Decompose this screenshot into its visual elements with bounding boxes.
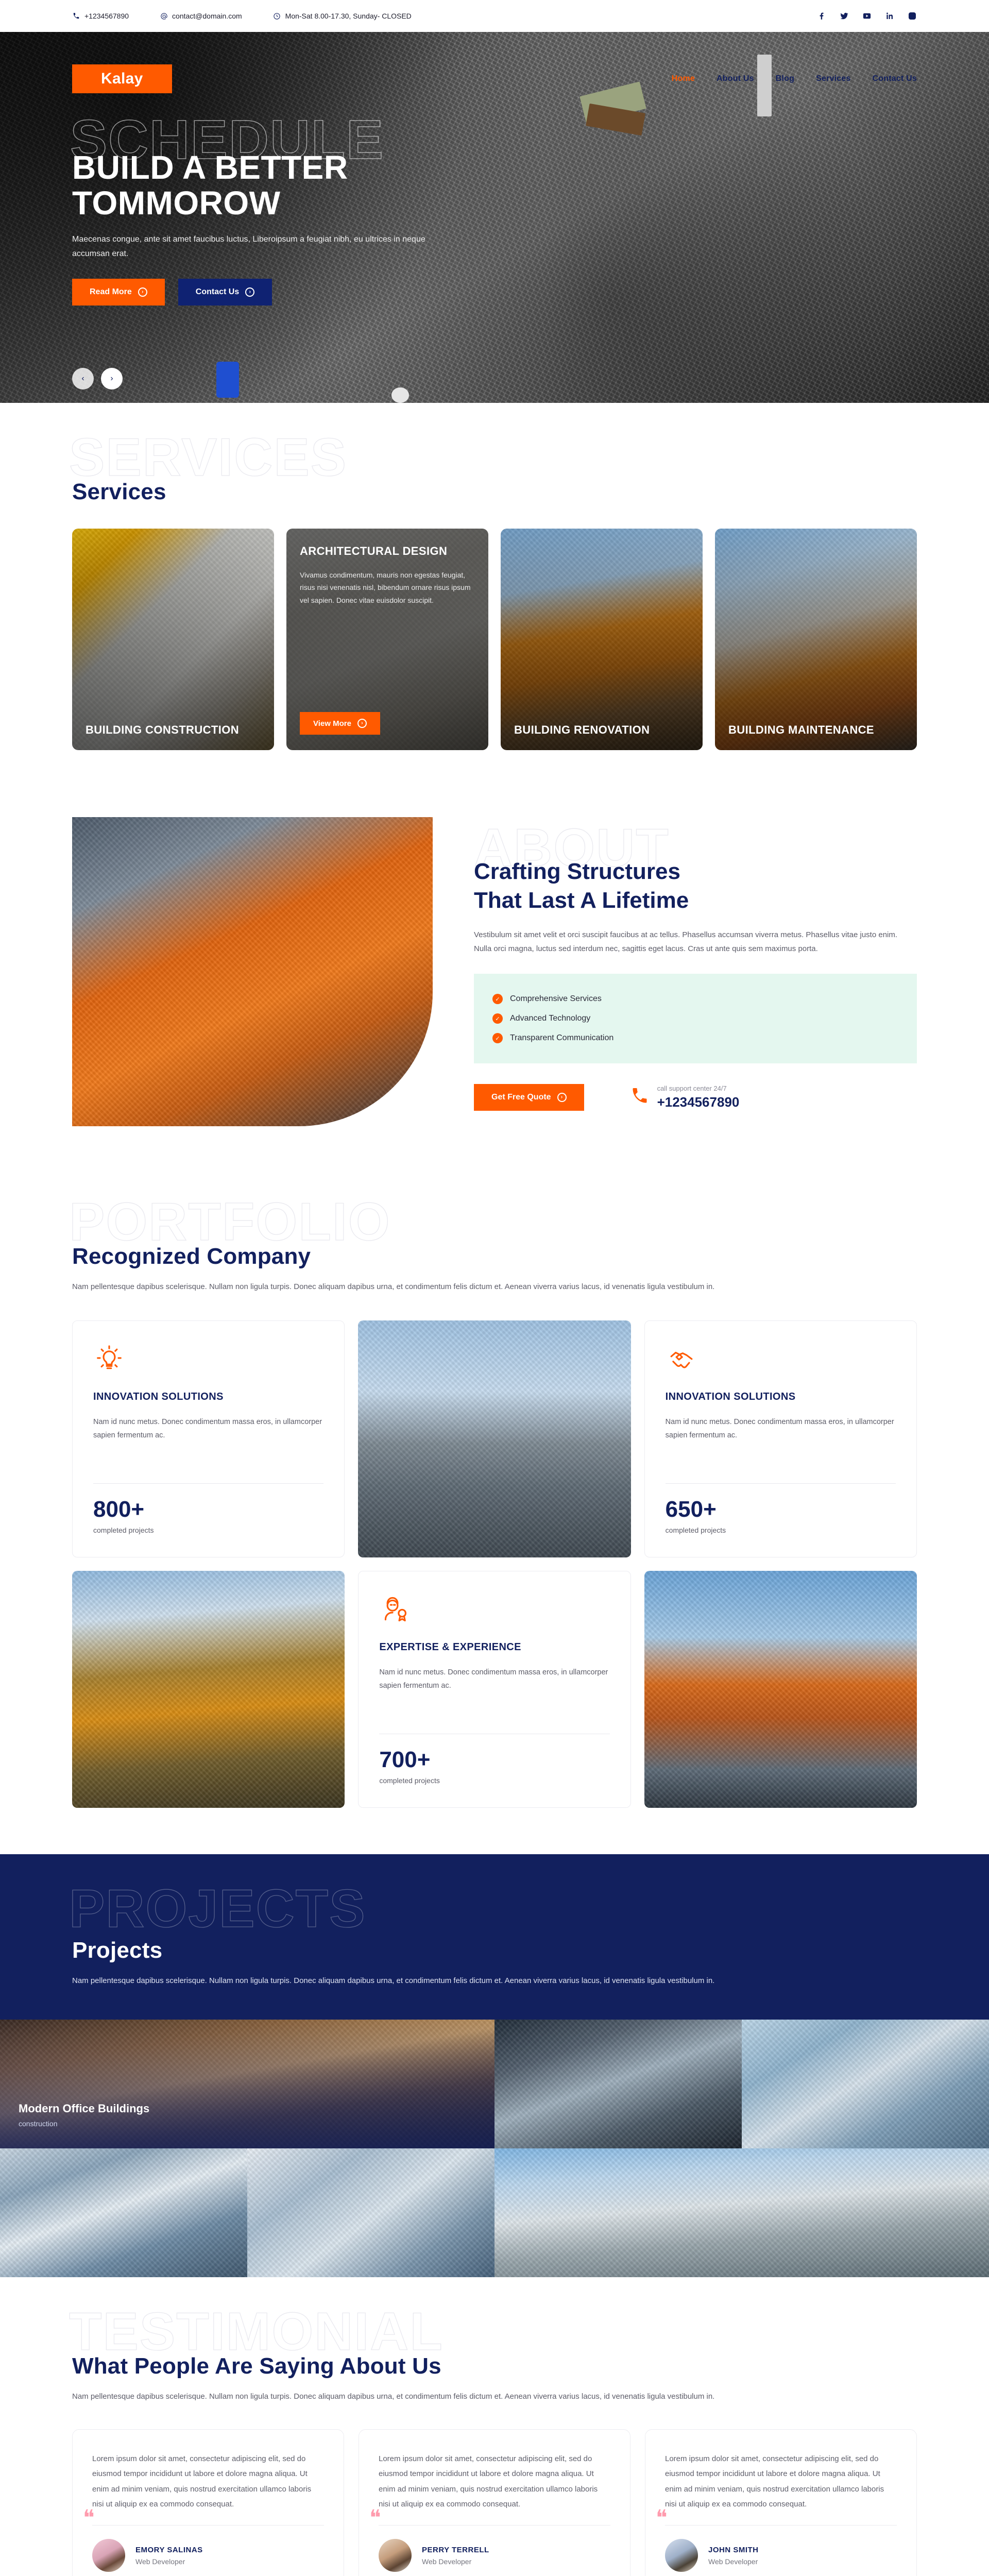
about-cta-row: Get Free Quote › call support center 24/… bbox=[474, 1084, 917, 1111]
projects-section: PROJECTS Projects Nam pellentesque dapib… bbox=[0, 1854, 989, 2277]
portfolio-card-innovation-solutions-1: INNOVATION SOLUTIONS Nam id nunc metus. … bbox=[72, 1320, 345, 1557]
testimonial-author-name: PERRY TERRELL bbox=[422, 2546, 489, 2554]
topbar-phone[interactable]: +1234567890 bbox=[72, 12, 129, 20]
portfolio-image-crane bbox=[644, 1571, 917, 1808]
testimonial-author-role: Web Developer bbox=[708, 2557, 759, 2566]
view-more-label: View More bbox=[313, 719, 351, 728]
phone-ring-icon bbox=[630, 1087, 649, 1108]
nav-item-blog[interactable]: Blog bbox=[776, 74, 794, 83]
about-heading-line1: Crafting Structures bbox=[474, 859, 680, 884]
portfolio-grid: INNOVATION SOLUTIONS Nam id nunc metus. … bbox=[72, 1320, 917, 1808]
portfolio-card-caption: completed projects bbox=[666, 1526, 896, 1534]
project-tile-facade[interactable] bbox=[0, 2148, 247, 2277]
services-grid: BUILDING CONSTRUCTION ARCHITECTURAL DESI… bbox=[72, 529, 917, 750]
feature-item-advanced-technology: ✓ Advanced Technology bbox=[492, 1009, 898, 1028]
handshake-icon bbox=[666, 1344, 697, 1376]
primary-nav: Home About Us Blog Services Contact Us bbox=[672, 74, 917, 83]
portfolio-section: PORTFOLIO Recognized Company Nam pellent… bbox=[0, 1167, 989, 1854]
testimonial-author-role: Web Developer bbox=[135, 2557, 203, 2566]
testimonial-subtitle: Nam pellentesque dapibus scelerisque. Nu… bbox=[72, 2389, 845, 2403]
service-card-building-maintenance[interactable]: BUILDING MAINTENANCE bbox=[715, 529, 917, 750]
call-support-label: call support center 24/7 bbox=[657, 1084, 740, 1092]
nav-item-contact-us[interactable]: Contact Us bbox=[873, 74, 917, 83]
nav-item-home[interactable]: Home bbox=[672, 74, 695, 83]
portfolio-card-caption: completed projects bbox=[93, 1526, 323, 1534]
portfolio-title: Recognized Company bbox=[72, 1217, 917, 1269]
avatar bbox=[665, 2539, 698, 2572]
project-image bbox=[0, 2148, 247, 2277]
lightbulb-icon bbox=[93, 1344, 125, 1376]
twitter-icon[interactable] bbox=[840, 11, 849, 21]
slider-prev-button[interactable]: ‹ bbox=[72, 368, 94, 389]
feature-item-comprehensive-services: ✓ Comprehensive Services bbox=[492, 989, 898, 1009]
hero-button-row: Read More › Contact Us › bbox=[72, 279, 577, 306]
phone-icon bbox=[72, 12, 80, 20]
read-more-button[interactable]: Read More › bbox=[72, 279, 165, 306]
quote-icon: ❝ bbox=[369, 2507, 381, 2529]
portfolio-image-excavator bbox=[72, 1571, 345, 1808]
about-heading-line2: That Last A Lifetime bbox=[474, 888, 689, 913]
portfolio-card-number: 800+ bbox=[93, 1498, 323, 1521]
services-section: SERVICES Services BUILDING CONSTRUCTION … bbox=[0, 403, 989, 786]
portfolio-card-number: 700+ bbox=[379, 1749, 609, 1771]
about-feature-list: ✓ Comprehensive Services ✓ Advanced Tech… bbox=[474, 974, 917, 1063]
nav-item-services[interactable]: Services bbox=[816, 74, 850, 83]
service-card-title: BUILDING CONSTRUCTION bbox=[86, 723, 264, 737]
testimonial-card-john-smith: Lorem ipsum dolor sit amet, consectetur … bbox=[645, 2429, 917, 2576]
topbar-hours: Mon-Sat 8.00-17.30, Sunday- CLOSED bbox=[273, 12, 412, 20]
check-circle-icon: ✓ bbox=[492, 1013, 503, 1024]
quote-icon: ❝ bbox=[656, 2507, 668, 2529]
topbar-hours-text: Mon-Sat 8.00-17.30, Sunday- CLOSED bbox=[285, 12, 412, 20]
avatar bbox=[379, 2539, 412, 2572]
arrow-right-icon: › bbox=[138, 287, 147, 297]
get-free-quote-label: Get Free Quote bbox=[491, 1093, 551, 1102]
hero-paragraph: Maecenas congue, ante sit amet faucibus … bbox=[72, 232, 464, 261]
feature-item-transparent-communication: ✓ Transparent Communication bbox=[492, 1028, 898, 1048]
projects-grid: Modern Office Buildings construction bbox=[0, 2020, 989, 2277]
topbar-email-text: contact@domain.com bbox=[172, 12, 242, 20]
service-card-title: BUILDING MAINTENANCE bbox=[728, 723, 907, 737]
service-card-body: Vivamus condimentum, mauris non egestas … bbox=[300, 569, 475, 607]
hero-slider-controls: ‹ › bbox=[0, 368, 989, 389]
testimonial-text: Lorem ipsum dolor sit amet, consectetur … bbox=[379, 2451, 610, 2512]
testimonial-text: Lorem ipsum dolor sit amet, consectetur … bbox=[92, 2451, 324, 2512]
service-card-architectural-design[interactable]: ARCHITECTURAL DESIGN Vivamus condimentum… bbox=[286, 529, 488, 750]
testimonial-card-perry-terrell: Lorem ipsum dolor sit amet, consectetur … bbox=[359, 2429, 630, 2576]
testimonial-section: TESTIMONIAL What People Are Saying About… bbox=[0, 2277, 989, 2576]
testimonial-card-emory-salinas: Lorem ipsum dolor sit amet, consectetur … bbox=[72, 2429, 344, 2576]
portfolio-card-title: EXPERTISE & EXPERIENCE bbox=[379, 1641, 609, 1653]
testimonial-title: What People Are Saying About Us bbox=[72, 2327, 917, 2379]
main-navbar: Kalay Home About Us Blog Services Contac… bbox=[0, 64, 989, 94]
service-card-title: ARCHITECTURAL DESIGN bbox=[300, 544, 475, 558]
hero-title-line2: TOMMOROW bbox=[72, 184, 281, 222]
topbar-phone-text: +1234567890 bbox=[84, 12, 129, 20]
quote-icon: ❝ bbox=[83, 2507, 95, 2529]
testimonial-author-name: JOHN SMITH bbox=[708, 2546, 759, 2554]
service-card-building-construction[interactable]: BUILDING CONSTRUCTION bbox=[72, 529, 274, 750]
project-subtitle: construction bbox=[19, 2120, 149, 2128]
get-free-quote-button[interactable]: Get Free Quote › bbox=[474, 1084, 584, 1111]
youtube-icon[interactable] bbox=[862, 11, 872, 21]
testimonial-author-role: Web Developer bbox=[422, 2557, 489, 2566]
check-circle-icon: ✓ bbox=[492, 1033, 503, 1043]
testimonial-text: Lorem ipsum dolor sit amet, consectetur … bbox=[665, 2451, 897, 2512]
portfolio-card-number: 650+ bbox=[666, 1498, 896, 1521]
portfolio-card-caption: completed projects bbox=[379, 1776, 609, 1785]
page-root: +1234567890 contact@domain.com Mon-Sat 8… bbox=[0, 0, 989, 2576]
clock-icon bbox=[273, 12, 281, 20]
arrow-right-icon: › bbox=[357, 719, 367, 728]
top-info-bar: +1234567890 contact@domain.com Mon-Sat 8… bbox=[0, 0, 989, 32]
project-image bbox=[247, 2148, 494, 2277]
read-more-label: Read More bbox=[90, 287, 132, 297]
feature-label: Comprehensive Services bbox=[510, 994, 602, 1004]
project-image bbox=[494, 2148, 989, 2277]
instagram-icon[interactable] bbox=[908, 11, 917, 21]
facebook-icon[interactable] bbox=[817, 11, 826, 21]
call-support-number: +1234567890 bbox=[657, 1094, 740, 1110]
view-more-button[interactable]: View More › bbox=[300, 712, 380, 735]
site-logo[interactable]: Kalay bbox=[72, 64, 172, 93]
hero-title-line1: BUILD A BETTER bbox=[72, 149, 348, 186]
expert-icon bbox=[379, 1594, 411, 1626]
slider-next-button[interactable]: › bbox=[101, 368, 123, 389]
portfolio-card-expertise-experience: EXPERTISE & EXPERIENCE Nam id nunc metus… bbox=[358, 1571, 630, 1808]
services-title: Services bbox=[72, 452, 917, 505]
portfolio-image-tower bbox=[358, 1320, 630, 1557]
about-photo bbox=[72, 817, 433, 1126]
about-call-support[interactable]: call support center 24/7 +1234567890 bbox=[630, 1084, 740, 1110]
avatar bbox=[92, 2539, 125, 2572]
top-contact-group: +1234567890 contact@domain.com Mon-Sat 8… bbox=[72, 12, 412, 20]
about-section: ABOUT Crafting Structures That Last A Li… bbox=[0, 786, 989, 1167]
feature-label: Transparent Communication bbox=[510, 1033, 613, 1043]
service-card-title: BUILDING RENOVATION bbox=[514, 723, 692, 737]
hero-title: BUILD A BETTER TOMMOROW bbox=[72, 150, 577, 221]
about-heading: Crafting Structures That Last A Lifetime bbox=[474, 835, 917, 916]
portfolio-card-innovation-solutions-2: INNOVATION SOLUTIONS Nam id nunc metus. … bbox=[644, 1320, 917, 1557]
projects-subtitle: Nam pellentesque dapibus scelerisque. Nu… bbox=[72, 1974, 845, 1988]
project-image bbox=[494, 2020, 742, 2148]
topbar-email[interactable]: contact@domain.com bbox=[160, 12, 242, 20]
project-tile-escalator[interactable] bbox=[494, 2020, 742, 2148]
portfolio-card-body: Nam id nunc metus. Donec condimentum mas… bbox=[666, 1415, 896, 1442]
portfolio-subtitle: Nam pellentesque dapibus scelerisque. Nu… bbox=[72, 1280, 845, 1294]
at-icon bbox=[160, 12, 168, 20]
linkedin-icon[interactable] bbox=[885, 11, 894, 21]
portfolio-card-title: INNOVATION SOLUTIONS bbox=[666, 1391, 896, 1403]
project-tile-architecture[interactable] bbox=[247, 2148, 494, 2277]
nav-item-about-us[interactable]: About Us bbox=[717, 74, 754, 83]
arrow-right-icon: › bbox=[557, 1093, 567, 1102]
projects-title: Projects bbox=[72, 1911, 917, 1963]
contact-us-label: Contact Us bbox=[196, 287, 239, 297]
testimonial-author-name: EMORY SALINAS bbox=[135, 2546, 203, 2554]
feature-label: Advanced Technology bbox=[510, 1014, 590, 1023]
arrow-right-icon: › bbox=[245, 287, 254, 297]
portfolio-card-title: INNOVATION SOLUTIONS bbox=[93, 1391, 323, 1403]
project-tile-villa[interactable] bbox=[494, 2148, 989, 2277]
check-circle-icon: ✓ bbox=[492, 994, 503, 1004]
about-paragraph: Vestibulum sit amet velit et orci suscip… bbox=[474, 928, 917, 957]
contact-us-button[interactable]: Contact Us › bbox=[178, 279, 272, 306]
project-title: Modern Office Buildings bbox=[19, 2102, 149, 2115]
project-tile-modern-office-buildings[interactable]: Modern Office Buildings construction bbox=[0, 2020, 494, 2148]
project-image bbox=[742, 2020, 989, 2148]
topbar-social-group bbox=[817, 11, 917, 21]
portfolio-card-body: Nam id nunc metus. Donec condimentum mas… bbox=[93, 1415, 323, 1442]
portfolio-card-body: Nam id nunc metus. Donec condimentum mas… bbox=[379, 1666, 609, 1692]
project-tile-glass-building[interactable] bbox=[742, 2020, 989, 2148]
service-card-building-renovation[interactable]: BUILDING RENOVATION bbox=[501, 529, 703, 750]
testimonial-grid: Lorem ipsum dolor sit amet, consectetur … bbox=[72, 2429, 917, 2576]
